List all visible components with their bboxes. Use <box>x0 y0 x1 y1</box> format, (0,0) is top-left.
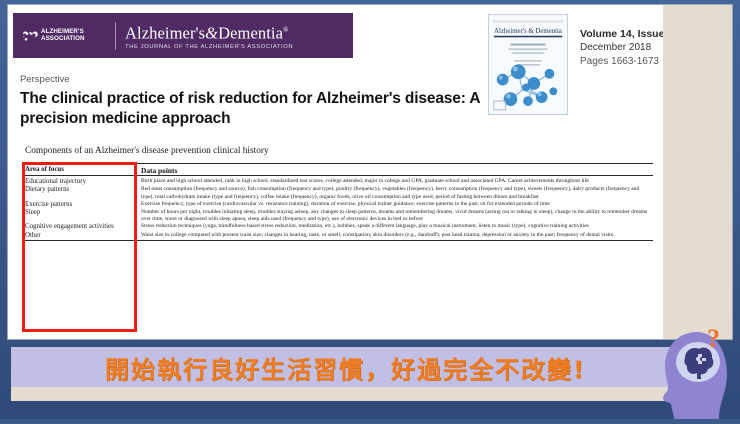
registered-mark: ® <box>283 26 288 34</box>
issue-volume: Volume 14, Issue 12 <box>580 27 663 41</box>
journal-title-main: Alzheimer's <box>125 23 205 42</box>
journal-subtitle: THE JOURNAL OF THE ALZHEIMER'S ASSOCIATI… <box>125 44 293 50</box>
row-area-cognitive-engagement-activities: Cognitive engagement activities <box>25 223 141 231</box>
table-row: Other Waist size in college compared wit… <box>25 232 653 241</box>
brain-head-mascot: ? <box>657 322 740 419</box>
table-caption: Components of an Alzheimer's disease pre… <box>25 146 269 156</box>
association-mark-icon <box>23 29 38 42</box>
question-mark-icon: ? <box>707 324 720 354</box>
head-silhouette-icon <box>657 322 740 419</box>
row-data-cognitive-engagement-activities: Stress reduction techniques (yoga, mindf… <box>141 223 653 231</box>
article-kicker: Perspective <box>20 74 70 85</box>
clinical-history-table: Area of focus Data points Educational tr… <box>25 163 653 243</box>
masthead-divider <box>115 22 116 50</box>
column-header-area-of-focus: Area of focus <box>25 166 141 176</box>
row-area-sleep: Sleep <box>25 209 141 223</box>
row-data-sleep: Number of hours per night, troubles init… <box>141 209 653 223</box>
row-data-dietary-patterns: Red meat consumption (frequency and sour… <box>141 186 653 200</box>
issue-date: December 2018 <box>580 41 663 55</box>
issue-info: Volume 14, Issue 12 December 2018 Pages … <box>580 27 663 69</box>
column-header-data-points: Data points <box>141 166 653 176</box>
association-wordmark: ALZHEIMER'S ASSOCIATION <box>41 29 85 42</box>
band-shadow <box>11 387 680 401</box>
journal-title-ampersand: & <box>205 23 218 42</box>
row-area-dietary-patterns: Dietary patterns <box>25 186 141 200</box>
row-area-exercise-patterns: Exercise patterns <box>25 201 141 209</box>
table-row: Dietary patterns Red meat consumption (f… <box>25 186 653 200</box>
table-rule-bottom <box>25 241 653 244</box>
article-title: The clinical practice of risk reduction … <box>20 89 490 129</box>
row-area-educational-trajectory: Educational trajectory <box>25 178 141 186</box>
subtitle-text: 開始執行良好生活習慣，好過完全不改變! <box>105 350 586 385</box>
journal-cover-thumbnail[interactable]: Alzheimer's & Dementia <box>488 14 568 115</box>
table-row: Cognitive engagement activities Stress r… <box>25 223 653 231</box>
svg-text:Alzheimer's & Dementia: Alzheimer's & Dementia <box>494 28 562 35</box>
screenshot-root: ALZHEIMER'S ASSOCIATION Alzheimer's&Deme… <box>0 0 740 419</box>
row-data-other: Waist size in college compared with pres… <box>141 232 653 241</box>
alzheimers-association-logo: ALZHEIMER'S ASSOCIATION <box>13 29 111 42</box>
journal-title-second: Dementia <box>218 23 283 42</box>
row-area-other: Other <box>25 232 141 241</box>
row-data-exercise-patterns: Exercise frequency, type of exercise (ca… <box>141 201 653 209</box>
table-row: Sleep Number of hours per night, trouble… <box>25 209 653 223</box>
association-line-2: ASSOCIATION <box>41 36 85 43</box>
journal-masthead: ALZHEIMER'S ASSOCIATION Alzheimer's&Deme… <box>13 13 353 58</box>
table-header-row: Area of focus Data points <box>25 166 653 176</box>
subtitle-banner: 開始執行良好生活習慣，好過完全不改變! <box>11 347 680 387</box>
table-body: Area of focus Data points Educational tr… <box>25 164 653 244</box>
journal-title-block: Alzheimer's&Dementia® THE JOURNAL OF THE… <box>125 21 293 51</box>
article-sheet: ALZHEIMER'S ASSOCIATION Alzheimer's&Deme… <box>8 5 663 339</box>
journal-title: Alzheimer's&Dementia® <box>125 21 293 43</box>
table-row: Exercise patterns Exercise frequency, ty… <box>25 201 653 209</box>
cover-artwork-icon: Alzheimer's & Dementia <box>489 15 567 114</box>
issue-pages: Pages 1663-1673 <box>580 55 663 69</box>
